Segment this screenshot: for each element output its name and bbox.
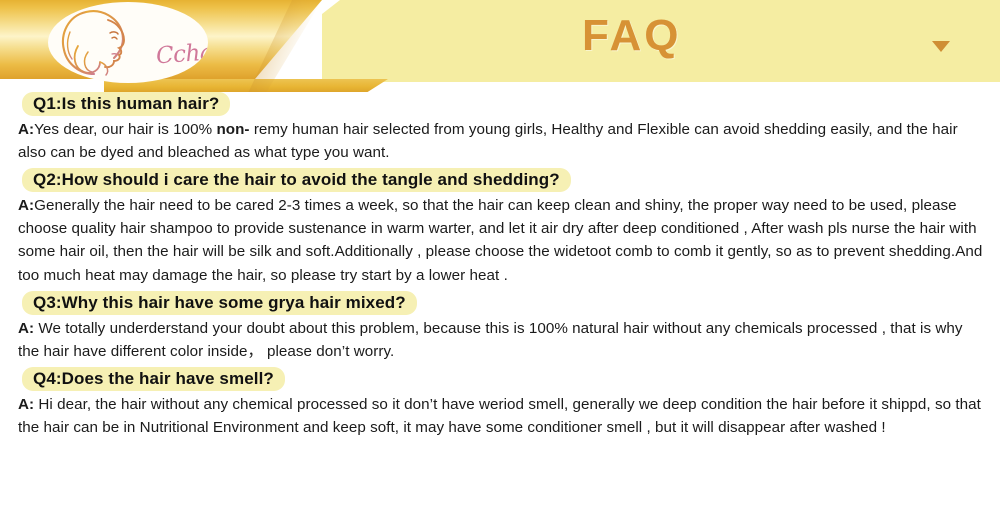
answer-tag: A: [18,197,34,214]
chevron-down-icon[interactable] [932,41,950,52]
faq-question[interactable]: Q1:Is this human hair? [22,92,230,116]
faq-list: Q1:Is this human hair? A:Yes dear, our h… [0,92,1000,443]
faq-question[interactable]: Q3:Why this hair have some grya hair mix… [22,291,417,315]
faq-item: Q4:Does the hair have smell? A: Hi dear,… [0,367,1000,439]
faq-answer: A:Yes dear, our hair is 100% non- remy h… [18,118,986,164]
faq-question-label: Q1:Is this human hair? [22,92,230,116]
answer-text-pre: Yes dear, our hair is 100% [34,121,216,138]
answer-text-pre: We totally underderstand your doubt abou… [18,320,963,360]
faq-question-label: Q4:Does the hair have smell? [22,367,285,391]
faq-answer: A:Generally the hair need to be cared 2-… [18,194,986,286]
faq-item: Q1:Is this human hair? A:Yes dear, our h… [0,92,1000,164]
answer-text-bold: non- [216,121,249,138]
faq-question-label: Q3:Why this hair have some grya hair mix… [22,291,417,315]
answer-text-pre: Hi dear, the hair without any chemical p… [18,396,981,436]
answer-text-pre: Generally the hair need to be cared 2-3 … [18,197,982,283]
faq-answer: A: We totally underderstand your doubt a… [18,317,986,363]
answer-tag: A: [18,121,34,138]
faq-item: Q2:How should i care the hair to avoid t… [0,168,1000,286]
faq-question-label: Q2:How should i care the hair to avoid t… [22,168,571,192]
faq-item: Q3:Why this hair have some grya hair mix… [0,291,1000,363]
faq-question[interactable]: Q4:Does the hair have smell? [22,367,285,391]
answer-tag: A: [18,320,34,337]
brand-logo: Cchariss [48,2,208,83]
page-title: FAQ [582,14,681,58]
faq-answer: A: Hi dear, the hair without any chemica… [18,393,986,439]
faq-question[interactable]: Q2:How should i care the hair to avoid t… [22,168,571,192]
answer-tag: A: [18,396,34,413]
page-banner: Cchariss FAQ [0,0,1000,92]
